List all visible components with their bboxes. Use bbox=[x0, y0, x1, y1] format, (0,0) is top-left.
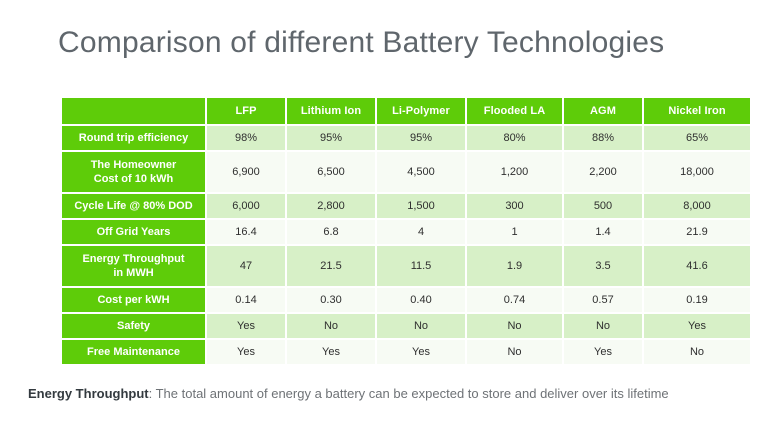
cell-r3-c0: 16.4 bbox=[207, 220, 285, 244]
cell-r2-c5: 8,000 bbox=[644, 194, 750, 218]
cell-r4-c0: 47 bbox=[207, 246, 285, 286]
row-label-safety: Safety bbox=[62, 314, 205, 338]
cell-r0-c3: 80% bbox=[467, 126, 562, 150]
cell-r1-c1: 6,500 bbox=[287, 152, 375, 192]
row-label-cycle-life: Cycle Life @ 80% DOD bbox=[62, 194, 205, 218]
cell-r6-c0: Yes bbox=[207, 314, 285, 338]
cell-r0-c4: 88% bbox=[564, 126, 642, 150]
cell-r0-c2: 95% bbox=[377, 126, 465, 150]
row-label-round-trip-efficiency: Round trip efficiency bbox=[62, 126, 205, 150]
cell-r6-c5: Yes bbox=[644, 314, 750, 338]
cell-r5-c0: 0.14 bbox=[207, 288, 285, 312]
cell-r5-c3: 0.74 bbox=[467, 288, 562, 312]
row-label-line-2: Cost of 10 kWh bbox=[94, 173, 173, 185]
table-row: Energy Throughput in MWH 47 21.5 11.5 1.… bbox=[62, 246, 750, 286]
column-header-nickel-iron: Nickel Iron bbox=[644, 98, 750, 124]
cell-r4-c1: 21.5 bbox=[287, 246, 375, 286]
table-row: Cost per kWH 0.14 0.30 0.40 0.74 0.57 0.… bbox=[62, 288, 750, 312]
table-row: Round trip efficiency 98% 95% 95% 80% 88… bbox=[62, 126, 750, 150]
cell-r0-c0: 98% bbox=[207, 126, 285, 150]
footnote: Energy Throughput: The total amount of e… bbox=[28, 386, 669, 401]
column-header-agm: AGM bbox=[564, 98, 642, 124]
cell-r2-c4: 500 bbox=[564, 194, 642, 218]
row-label-line-1: Energy Throughput bbox=[82, 253, 184, 265]
cell-r1-c0: 6,900 bbox=[207, 152, 285, 192]
table-row: The Homeowner Cost of 10 kWh 6,900 6,500… bbox=[62, 152, 750, 192]
battery-comparison-table: LFP Lithium Ion Li-Polymer Flooded LA AG… bbox=[60, 96, 752, 366]
table-row: Free Maintenance Yes Yes Yes No Yes No bbox=[62, 340, 750, 364]
table-header-row: LFP Lithium Ion Li-Polymer Flooded LA AG… bbox=[62, 98, 750, 124]
column-header-lfp: LFP bbox=[207, 98, 285, 124]
cell-r5-c4: 0.57 bbox=[564, 288, 642, 312]
table-row: Cycle Life @ 80% DOD 6,000 2,800 1,500 3… bbox=[62, 194, 750, 218]
row-label-energy-throughput: Energy Throughput in MWH bbox=[62, 246, 205, 286]
cell-r1-c5: 18,000 bbox=[644, 152, 750, 192]
row-label-off-grid-years: Off Grid Years bbox=[62, 220, 205, 244]
table-body: Round trip efficiency 98% 95% 95% 80% 88… bbox=[62, 126, 750, 364]
table-row: Off Grid Years 16.4 6.8 4 1 1.4 21.9 bbox=[62, 220, 750, 244]
row-label-free-maintenance: Free Maintenance bbox=[62, 340, 205, 364]
cell-r7-c2: Yes bbox=[377, 340, 465, 364]
cell-r7-c5: No bbox=[644, 340, 750, 364]
comparison-table-container: LFP Lithium Ion Li-Polymer Flooded LA AG… bbox=[60, 96, 708, 366]
cell-r7-c4: Yes bbox=[564, 340, 642, 364]
column-header-flooded-la: Flooded LA bbox=[467, 98, 562, 124]
cell-r3-c3: 1 bbox=[467, 220, 562, 244]
footnote-definition: : The total amount of energy a battery c… bbox=[149, 386, 669, 401]
cell-r0-c1: 95% bbox=[287, 126, 375, 150]
cell-r7-c1: Yes bbox=[287, 340, 375, 364]
cell-r4-c5: 41.6 bbox=[644, 246, 750, 286]
cell-r3-c4: 1.4 bbox=[564, 220, 642, 244]
cell-r6-c1: No bbox=[287, 314, 375, 338]
cell-r3-c2: 4 bbox=[377, 220, 465, 244]
cell-r2-c3: 300 bbox=[467, 194, 562, 218]
cell-r4-c4: 3.5 bbox=[564, 246, 642, 286]
table-corner-cell bbox=[62, 98, 205, 124]
cell-r3-c1: 6.8 bbox=[287, 220, 375, 244]
cell-r4-c2: 11.5 bbox=[377, 246, 465, 286]
cell-r5-c1: 0.30 bbox=[287, 288, 375, 312]
column-header-lithium-ion: Lithium Ion bbox=[287, 98, 375, 124]
slide-root: Comparison of different Battery Technolo… bbox=[0, 0, 768, 432]
cell-r1-c2: 4,500 bbox=[377, 152, 465, 192]
cell-r1-c4: 2,200 bbox=[564, 152, 642, 192]
row-label-homeowner-cost: The Homeowner Cost of 10 kWh bbox=[62, 152, 205, 192]
cell-r1-c3: 1,200 bbox=[467, 152, 562, 192]
column-header-li-polymer: Li-Polymer bbox=[377, 98, 465, 124]
cell-r0-c5: 65% bbox=[644, 126, 750, 150]
cell-r4-c3: 1.9 bbox=[467, 246, 562, 286]
cell-r7-c3: No bbox=[467, 340, 562, 364]
table-row: Safety Yes No No No No Yes bbox=[62, 314, 750, 338]
cell-r2-c0: 6,000 bbox=[207, 194, 285, 218]
row-label-line-1: The Homeowner bbox=[91, 159, 177, 171]
table-header: LFP Lithium Ion Li-Polymer Flooded LA AG… bbox=[62, 98, 750, 124]
row-label-cost-per-kwh: Cost per kWH bbox=[62, 288, 205, 312]
page-title: Comparison of different Battery Technolo… bbox=[58, 26, 664, 60]
cell-r5-c5: 0.19 bbox=[644, 288, 750, 312]
footnote-term: Energy Throughput bbox=[28, 386, 149, 401]
cell-r6-c2: No bbox=[377, 314, 465, 338]
cell-r5-c2: 0.40 bbox=[377, 288, 465, 312]
cell-r6-c4: No bbox=[564, 314, 642, 338]
cell-r7-c0: Yes bbox=[207, 340, 285, 364]
cell-r6-c3: No bbox=[467, 314, 562, 338]
cell-r3-c5: 21.9 bbox=[644, 220, 750, 244]
cell-r2-c2: 1,500 bbox=[377, 194, 465, 218]
row-label-line-2: in MWH bbox=[113, 267, 153, 279]
cell-r2-c1: 2,800 bbox=[287, 194, 375, 218]
